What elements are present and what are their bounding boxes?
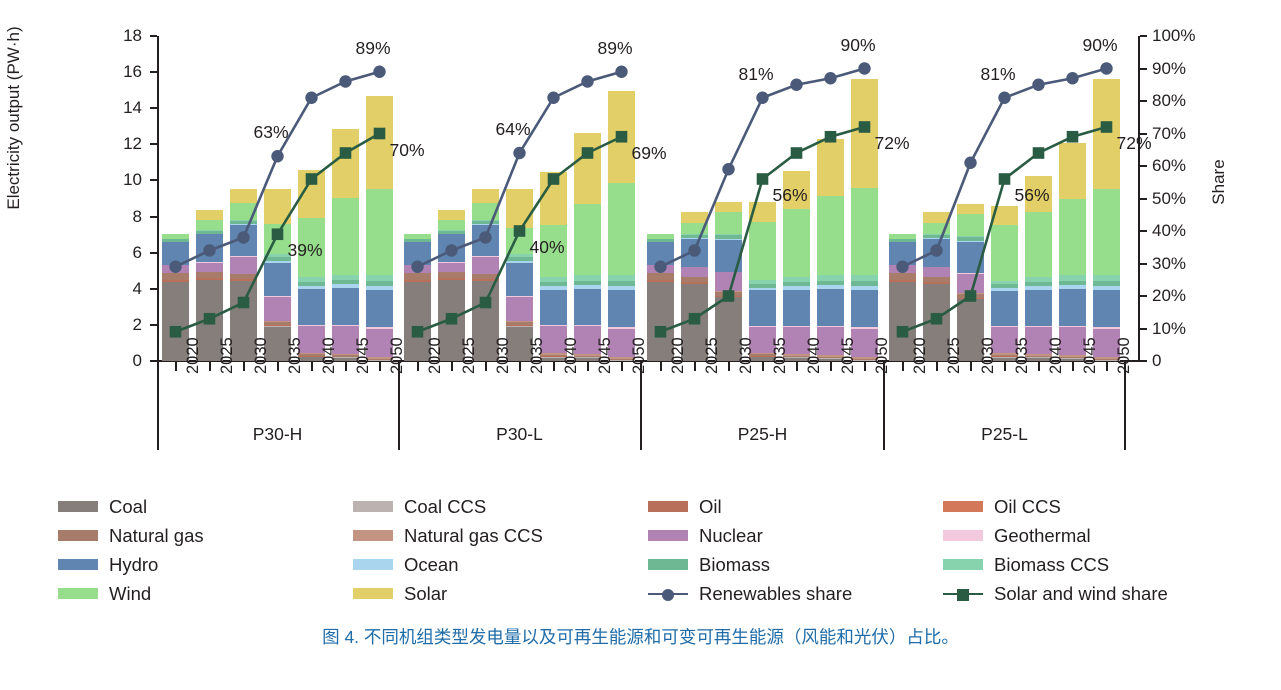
legend-swatch-icon <box>943 559 983 570</box>
legend-swatch-icon <box>353 559 393 570</box>
y-tick-label-right: 10% <box>1152 320 1212 337</box>
share-annotation-label: 72% <box>1117 133 1152 154</box>
legend-label: Coal <box>109 496 147 518</box>
legend: CoalCoal CCSOilOil CCSNatural gasNatural… <box>58 492 1238 608</box>
line-marker-square <box>965 290 977 302</box>
x-tick-label: 2045 <box>839 337 858 374</box>
x-tick-label: 2040 <box>1047 337 1066 374</box>
line-marker-circle <box>1032 79 1044 91</box>
y-tick-right <box>1140 35 1147 37</box>
x-tick-label: 2030 <box>737 337 756 374</box>
legend-label: Natural gas <box>109 525 204 547</box>
legend-swatch-icon <box>353 501 393 512</box>
legend-label: Biomass CCS <box>994 554 1109 576</box>
line-marker-square <box>374 128 386 140</box>
x-tick <box>1038 362 1040 371</box>
legend-label: Renewables share <box>699 583 852 605</box>
x-tick-label: 2045 <box>1081 337 1100 374</box>
y-tick-left <box>150 143 157 145</box>
line-marker-circle <box>896 261 908 273</box>
y-tick-label-right: 100% <box>1152 27 1212 44</box>
x-tick-label: 2035 <box>286 337 305 374</box>
line-marker-square <box>931 313 943 325</box>
figure-caption: 图 4. 不同机组类型发电量以及可再生能源和可变可再生能源（风能和光伏）占比。 <box>0 624 1281 649</box>
x-tick <box>243 362 245 371</box>
y-tick-left <box>150 288 157 290</box>
legend-label: Ocean <box>404 554 459 576</box>
x-tick-label: 2020 <box>911 337 930 374</box>
share-annotation-label: 56% <box>773 185 808 206</box>
legend-swatch-icon <box>648 559 688 570</box>
legend-item-oil[interactable]: Oil <box>648 496 943 518</box>
y-tick-label-left: 18 <box>102 27 142 44</box>
x-tick <box>970 362 972 371</box>
share-annotation-label: 89% <box>356 38 391 59</box>
legend-item-coal-ccs[interactable]: Coal CCS <box>353 496 648 518</box>
legend-label: Solar and wind share <box>994 583 1168 605</box>
legend-item-natural-gas[interactable]: Natural gas <box>58 525 353 547</box>
legend-item-geothermal[interactable]: Geothermal <box>943 525 1238 547</box>
x-tick-label: 2040 <box>805 337 824 374</box>
x-tick-label: 2025 <box>703 337 722 374</box>
legend-swatch-icon <box>648 530 688 541</box>
legend-label: Solar <box>404 583 447 605</box>
legend-item-biomass-ccs[interactable]: Biomass CCS <box>943 554 1238 576</box>
share-annotation-label: 90% <box>841 35 876 56</box>
share-annotation-label: 81% <box>981 64 1016 85</box>
y-tick-right <box>1140 100 1147 102</box>
legend-label: Biomass <box>699 554 770 576</box>
line-marker-square <box>170 326 182 338</box>
x-tick <box>830 362 832 371</box>
x-tick <box>345 362 347 371</box>
legend-row: WindSolarRenewables shareSolar and wind … <box>58 579 1238 608</box>
x-tick <box>587 362 589 371</box>
y-axis-left-title: Electricity output (PW·h) <box>4 0 24 238</box>
legend-item-renewables-share[interactable]: Renewables share <box>648 583 943 605</box>
figure-container: 024681012141618 010%20%30%40%50%60%70%80… <box>0 0 1281 690</box>
x-tick-label: 2020 <box>669 337 688 374</box>
legend-swatch-icon <box>58 588 98 599</box>
x-tick <box>379 362 381 371</box>
x-tick <box>1106 362 1108 371</box>
share-annotation-label: 69% <box>632 143 667 164</box>
y-tick-right <box>1140 68 1147 70</box>
line-marker-circle <box>237 231 249 243</box>
y-tick-label-right: 30% <box>1152 255 1212 272</box>
x-tick-label: 2045 <box>596 337 615 374</box>
share-annotation-label: 40% <box>530 237 565 258</box>
line-marker-circle <box>654 261 666 273</box>
y-tick-label-right: 90% <box>1152 60 1212 77</box>
y-tick-label-left: 8 <box>102 208 142 225</box>
line-path <box>903 127 1107 332</box>
y-tick-label-left: 12 <box>102 135 142 152</box>
legend-swatch-icon <box>353 588 393 599</box>
line-marker-circle <box>411 261 423 273</box>
line-marker-square <box>616 131 628 143</box>
scenario-group-label: P30-L <box>460 424 580 445</box>
legend-row: Natural gasNatural gas CCSNuclearGeother… <box>58 521 1238 550</box>
x-tick <box>728 362 730 371</box>
y-tick-label-left: 4 <box>102 280 142 297</box>
x-tick <box>621 362 623 371</box>
x-tick-label: 2025 <box>460 337 479 374</box>
x-tick <box>175 362 177 371</box>
line-marker-square <box>723 290 735 302</box>
line-marker-circle <box>964 157 976 169</box>
x-tick <box>209 362 211 371</box>
line-marker-circle <box>373 66 385 78</box>
scenario-group-label: P25-H <box>703 424 823 445</box>
legend-item-biomass[interactable]: Biomass <box>648 554 943 576</box>
legend-item-coal[interactable]: Coal <box>58 496 353 518</box>
x-tick <box>936 362 938 371</box>
x-tick <box>902 362 904 371</box>
x-tick-label: 2025 <box>218 337 237 374</box>
legend-label: Hydro <box>109 554 158 576</box>
share-annotation-label: 56% <box>1015 185 1050 206</box>
legend-swatch-icon <box>58 530 98 541</box>
line-marker-circle <box>615 66 627 78</box>
y-tick-label-left: 6 <box>102 244 142 261</box>
line-marker-square <box>272 228 284 240</box>
line-marker-square <box>757 173 769 185</box>
x-tick <box>519 362 521 371</box>
legend-item-oil-ccs[interactable]: Oil CCS <box>943 496 1238 518</box>
x-tick-label: 2050 <box>630 337 649 374</box>
y-tick-left <box>150 35 157 37</box>
y-tick-label-right: 80% <box>1152 92 1212 109</box>
x-tick-label: 2035 <box>771 337 790 374</box>
y-tick-label-right: 70% <box>1152 125 1212 142</box>
line-series-layer <box>158 36 1138 361</box>
line-marker-square <box>238 297 250 309</box>
legend-swatch-icon <box>943 530 983 541</box>
y-tick-right <box>1140 230 1147 232</box>
x-tick-label: 2020 <box>184 337 203 374</box>
legend-item-solar[interactable]: Solar <box>353 583 648 605</box>
legend-label: Geothermal <box>994 525 1091 547</box>
line-marker-square <box>340 147 352 159</box>
line-marker-circle <box>169 261 181 273</box>
line-marker-square <box>1033 147 1045 159</box>
x-tick-label: 2040 <box>562 337 581 374</box>
line-marker-circle <box>339 75 351 87</box>
legend-label: Oil CCS <box>994 496 1061 518</box>
x-tick <box>864 362 866 371</box>
x-tick-label: 2040 <box>320 337 339 374</box>
line-marker-circle <box>203 244 215 256</box>
legend-item-wind[interactable]: Wind <box>58 583 353 605</box>
x-tick-label: 2045 <box>354 337 373 374</box>
scenario-group-label: P25-L <box>945 424 1065 445</box>
x-tick-label: 2035 <box>528 337 547 374</box>
y-tick-right <box>1140 198 1147 200</box>
legend-swatch-icon <box>58 559 98 570</box>
share-annotation-label: 64% <box>496 119 531 140</box>
x-tick-label: 2025 <box>945 337 964 374</box>
legend-row: HydroOceanBiomassBiomass CCS <box>58 550 1238 579</box>
line-marker-circle <box>271 150 283 162</box>
y-tick-left <box>150 324 157 326</box>
x-tick-label: 2035 <box>1013 337 1032 374</box>
legend-item-ocean[interactable]: Ocean <box>353 554 648 576</box>
line-marker-square <box>825 131 837 143</box>
y-tick-label-left: 16 <box>102 63 142 80</box>
line-marker-square <box>1067 131 1079 143</box>
y-tick-right <box>1140 263 1147 265</box>
y-tick-label-left: 10 <box>102 171 142 188</box>
y-tick-right <box>1140 360 1147 362</box>
y-tick-label-right: 40% <box>1152 222 1212 239</box>
y-tick-label-right: 60% <box>1152 157 1212 174</box>
y-tick-label-right: 20% <box>1152 287 1212 304</box>
legend-swatch-icon <box>648 501 688 512</box>
line-path <box>661 127 865 332</box>
line-marker-square <box>514 225 526 237</box>
line-marker-circle <box>998 92 1010 104</box>
y-axis-right-title: Share <box>1209 137 1229 227</box>
y-tick-left <box>150 107 157 109</box>
x-tick <box>311 362 313 371</box>
legend-swatch-icon <box>58 501 98 512</box>
line-marker-square <box>204 313 216 325</box>
legend-item-solar-and-wind-share[interactable]: Solar and wind share <box>943 583 1238 605</box>
line-marker-circle <box>1066 72 1078 84</box>
legend-label: Oil <box>699 496 722 518</box>
x-tick <box>277 362 279 371</box>
y-tick-label-left: 14 <box>102 99 142 116</box>
share-annotation-label: 89% <box>598 38 633 59</box>
group-separator <box>883 362 885 450</box>
line-marker-square <box>791 147 803 159</box>
line-marker-circle <box>445 244 457 256</box>
line-marker-circle <box>824 72 836 84</box>
x-tick <box>694 362 696 371</box>
x-tick <box>1004 362 1006 371</box>
line-marker-square <box>306 173 318 185</box>
line-marker-circle <box>688 244 700 256</box>
line-marker-square <box>480 297 492 309</box>
legend-item-nuclear[interactable]: Nuclear <box>648 525 943 547</box>
line-marker-circle <box>930 244 942 256</box>
x-tick <box>796 362 798 371</box>
x-tick <box>417 362 419 371</box>
y-tick-label-left: 2 <box>102 316 142 333</box>
legend-swatch-icon <box>353 530 393 541</box>
line-marker-square <box>999 173 1011 185</box>
y-tick-left <box>150 216 157 218</box>
line-marker-circle <box>479 231 491 243</box>
y-tick-label-left: 0 <box>102 352 142 369</box>
line-marker-square <box>689 313 701 325</box>
y-tick-label-right: 50% <box>1152 190 1212 207</box>
x-tick-label: 2030 <box>252 337 271 374</box>
share-annotation-label: 63% <box>254 122 289 143</box>
line-marker-square <box>446 313 458 325</box>
share-annotation-label: 72% <box>875 133 910 154</box>
line-marker-square <box>859 121 871 133</box>
line-marker-circle <box>581 75 593 87</box>
group-separator <box>640 362 642 450</box>
x-tick <box>660 362 662 371</box>
line-marker-square <box>1101 121 1113 133</box>
legend-row: CoalCoal CCSOilOil CCS <box>58 492 1238 521</box>
x-tick <box>1072 362 1074 371</box>
line-marker-circle <box>305 92 317 104</box>
y-tick-left <box>150 360 157 362</box>
line-marker-square <box>655 326 667 338</box>
x-tick-label: 2030 <box>494 337 513 374</box>
x-tick-label: 2030 <box>979 337 998 374</box>
group-separator <box>398 362 400 450</box>
x-tick <box>762 362 764 371</box>
line-marker-square <box>412 326 424 338</box>
plot-area <box>158 36 1138 361</box>
group-separator <box>157 362 159 450</box>
line-marker-circle <box>790 79 802 91</box>
y-tick-right <box>1140 165 1147 167</box>
y-tick-right <box>1140 328 1147 330</box>
line-marker-circle <box>547 92 559 104</box>
line-marker-square <box>548 173 560 185</box>
y-tick-left <box>150 252 157 254</box>
y-tick-left <box>150 179 157 181</box>
line-marker-square <box>582 147 594 159</box>
legend-item-hydro[interactable]: Hydro <box>58 554 353 576</box>
y-tick-right <box>1140 295 1147 297</box>
legend-label: Nuclear <box>699 525 763 547</box>
line-marker-circle <box>513 147 525 159</box>
line-marker-circle <box>756 92 768 104</box>
legend-label: Coal CCS <box>404 496 486 518</box>
line-marker-circle <box>858 62 870 74</box>
line-path <box>418 72 622 267</box>
x-tick <box>451 362 453 371</box>
legend-label: Natural gas CCS <box>404 525 543 547</box>
legend-item-natural-gas-ccs[interactable]: Natural gas CCS <box>353 525 648 547</box>
line-marker-circle <box>722 163 734 175</box>
line-marker-square <box>897 326 909 338</box>
scenario-group-label: P30-H <box>218 424 338 445</box>
group-separator <box>1124 362 1126 450</box>
share-annotation-label: 81% <box>739 64 774 85</box>
legend-line-marker-icon <box>648 587 688 601</box>
legend-label: Wind <box>109 583 151 605</box>
legend-swatch-icon <box>943 501 983 512</box>
x-tick-label: 2020 <box>426 337 445 374</box>
share-annotation-label: 39% <box>288 240 323 261</box>
line-marker-circle <box>1100 62 1112 74</box>
legend-line-marker-icon <box>943 587 983 601</box>
share-annotation-label: 70% <box>390 140 425 161</box>
x-tick <box>485 362 487 371</box>
share-annotation-label: 90% <box>1083 35 1118 56</box>
y-tick-left <box>150 71 157 73</box>
y-tick-label-right: 0 <box>1152 352 1212 369</box>
x-tick <box>553 362 555 371</box>
